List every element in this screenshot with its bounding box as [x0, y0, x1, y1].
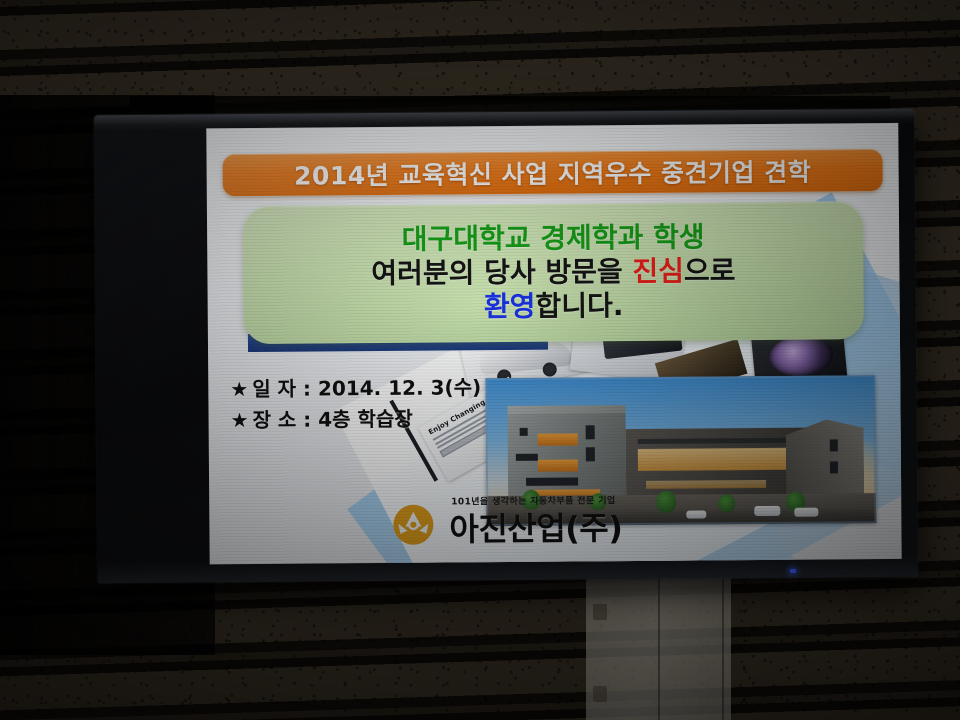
- welcome-line1-segment-1: 대구대학교 경제학과 학생: [402, 220, 705, 255]
- detail-value-place: 4층 학습장: [318, 407, 413, 432]
- monitor-power-led: [790, 569, 796, 573]
- welcome-message-box: 대구대학교 경제학과 학생 여러분의 당사 방문을 진심으로 환영합니다.: [243, 201, 864, 344]
- detail-value-date: 2014. 12. 3(수): [318, 375, 481, 400]
- company-name: 아진산업(주): [449, 503, 622, 550]
- welcome-line2-segment-1: 여러분의 당사 방문을: [371, 255, 632, 290]
- welcome-line-1: 대구대학교 경제학과 학생: [402, 220, 705, 257]
- welcome-line3-segment-2: 합니다.: [535, 289, 623, 323]
- welcome-line2-segment-3: 으로: [684, 254, 736, 287]
- wall-mounted-monitor[interactable]: Enjoy Changing !: [94, 109, 918, 583]
- slide-title-banner: 2014년 교육혁신 사업 지역우수 중견기업 견학: [222, 149, 882, 196]
- ajin-logo-icon: [391, 503, 435, 547]
- photo-scene: Enjoy Changing !: [0, 0, 960, 720]
- company-logo-row: 101년을 생각하는 자동차부품 전문 기업 아진산업(주): [391, 492, 721, 553]
- welcome-line2-segment-2: 진심: [632, 255, 684, 288]
- slide-title-text: 2014년 교육혁신 사업 지역우수 중견기업 견학: [294, 153, 811, 193]
- detail-row-place: ★장 소 : 4층 학습장: [230, 403, 481, 436]
- door-hinge-top: [593, 604, 607, 620]
- welcome-line3-segment-1: 환영: [484, 290, 536, 323]
- event-details: ★일 자 : 2014. 12. 3(수) ★장 소 : 4층 학습장: [230, 372, 481, 436]
- door-seam-right: [722, 578, 724, 720]
- detail-label-place: 장 소 :: [252, 408, 311, 432]
- monitor-screen[interactable]: Enjoy Changing !: [206, 123, 901, 564]
- welcome-line-3: 환영합니다.: [484, 289, 624, 324]
- detail-label-date: 일 자 :: [252, 377, 311, 401]
- welcome-line-2: 여러분의 당사 방문을 진심으로: [371, 254, 735, 291]
- door-seam-left: [658, 578, 660, 720]
- star-bullet-icon-place: ★: [230, 408, 248, 432]
- door-hinge-bottom: [593, 686, 607, 702]
- detail-row-date: ★일 자 : 2014. 12. 3(수): [230, 372, 481, 405]
- star-bullet-icon-date: ★: [230, 377, 248, 401]
